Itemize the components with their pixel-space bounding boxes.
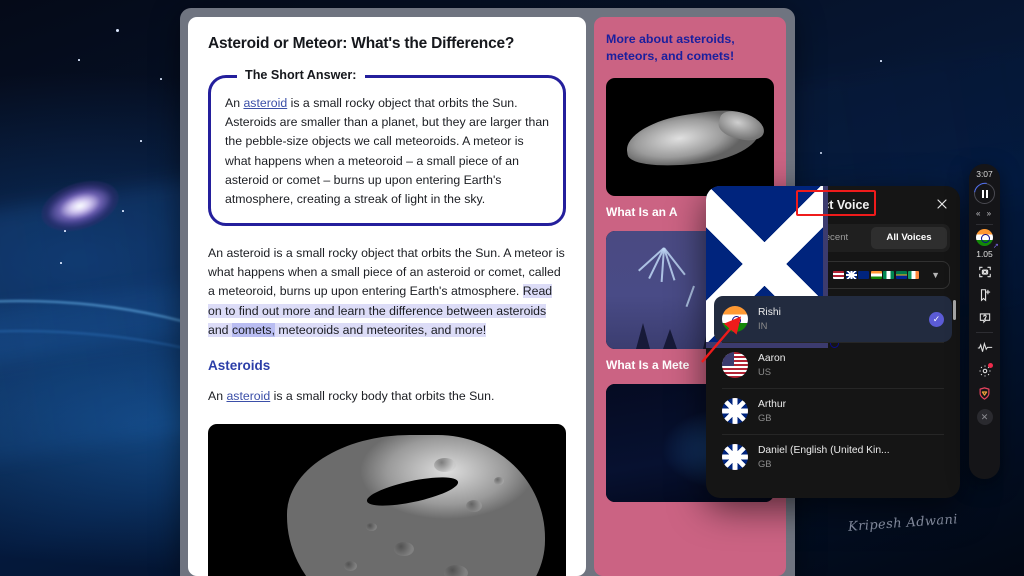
page-title: Asteroid or Meteor: What's the Differenc… [208,35,566,53]
annotation-arrow [690,300,780,370]
notification-badge [988,363,993,368]
star [140,140,142,142]
check-icon: ✓ [929,312,944,327]
flag-gb-icon [722,398,748,424]
asteroid-link[interactable]: asteroid [243,96,287,110]
divider [976,332,993,333]
voice-name: Arthur [758,399,786,410]
seek-controls[interactable]: « » [976,209,993,218]
flag-gb [846,271,857,279]
paragraph-plain: An asteroid is a small rocky object that… [208,246,565,298]
voice-list-item-daniel[interactable]: Daniel (English (United Kin... GB [714,434,952,480]
asteroid-shape [287,435,545,576]
star [880,60,882,62]
star [820,152,822,154]
scrollbar-thumb[interactable] [953,300,956,320]
tree-silhouette [636,323,650,349]
language-selector[interactable]: English ▼ [716,261,950,289]
star [64,230,66,232]
speed-value: 1.05 [976,249,993,259]
close-icon[interactable] [936,198,948,213]
star [160,78,162,80]
star [60,262,62,264]
flag-ng [883,271,894,279]
voice-name: Daniel (English (United Kin... [758,445,890,456]
crater [466,500,482,512]
flag-gb-icon [722,444,748,470]
star [122,210,124,212]
flag-ie [908,271,919,279]
pause-button[interactable] [974,183,995,204]
shield-logo-icon[interactable] [974,383,996,404]
flag-in [871,271,882,279]
callout-text-after: is a small rocky object that orbits the … [225,96,549,206]
paragraph-selected-strong: comets, [232,323,275,337]
section-text-before: An [208,389,226,403]
voice-info: Daniel (English (United Kin... GB [758,445,890,469]
crater [344,561,357,571]
close-icon[interactable]: ✕ [977,409,993,425]
bookmark-add-icon[interactable] [974,284,996,305]
flag-za [896,271,907,279]
voice-region: GB [758,458,890,469]
browser-window: Asteroid or Meteor: What's the Differenc… [180,8,795,576]
language-flag-strip [833,271,919,279]
crater [394,542,414,556]
star [78,59,80,61]
crater [434,458,456,472]
divider [976,224,993,225]
playback-time: 3:07 [976,169,993,179]
section-text-after: is a small rocky body that orbits the Su… [270,389,494,403]
voice-flag-in-icon[interactable] [976,229,993,246]
paragraph-selected-tail: meteoroids and meteorites, and more! [275,323,486,337]
voice-list-item-arthur[interactable]: Arthur GB [714,388,952,434]
asteroid-thumbnail [606,78,774,196]
crater [366,523,377,531]
section-heading-asteroids: Asteroids [208,358,566,373]
settings-gear-icon[interactable] [974,360,996,381]
help-icon[interactable] [974,307,996,328]
pause-icon [982,190,988,198]
floating-player-toolbar: 3:07 « » 1.05↗ [969,164,1000,479]
voice-region: GB [758,412,786,423]
callout-text-before: An [225,96,243,110]
flag-au [858,271,869,279]
asteroids-paragraph: An asteroid is a small rocky body that o… [208,387,566,406]
article-content: Asteroid or Meteor: What's the Differenc… [188,17,586,576]
playback-speed[interactable]: 1.05↗ [976,249,993,259]
flag-us [833,271,844,279]
tab-all-voices[interactable]: All Voices [871,227,947,249]
voice-info: Arthur GB [758,399,786,423]
callout-text: An asteroid is a small rocky object that… [225,94,549,209]
asteroid-shape [623,105,763,173]
asteroid-photo [208,424,566,576]
screenshot-icon[interactable] [974,261,996,282]
asteroid-link[interactable]: asteroid [226,389,270,403]
tree-silhouette [663,329,677,349]
related-heading: More about asteroids, meteors, and comet… [606,31,774,64]
callout-legend: The Short Answer: [237,68,365,82]
star [116,29,119,32]
short-answer-callout: The Short Answer: An asteroid is a small… [208,75,566,226]
waveform-icon[interactable] [974,337,996,358]
chevron-down-icon[interactable]: ▼ [931,270,940,280]
intro-paragraph: An asteroid is a small rocky object that… [208,244,566,340]
